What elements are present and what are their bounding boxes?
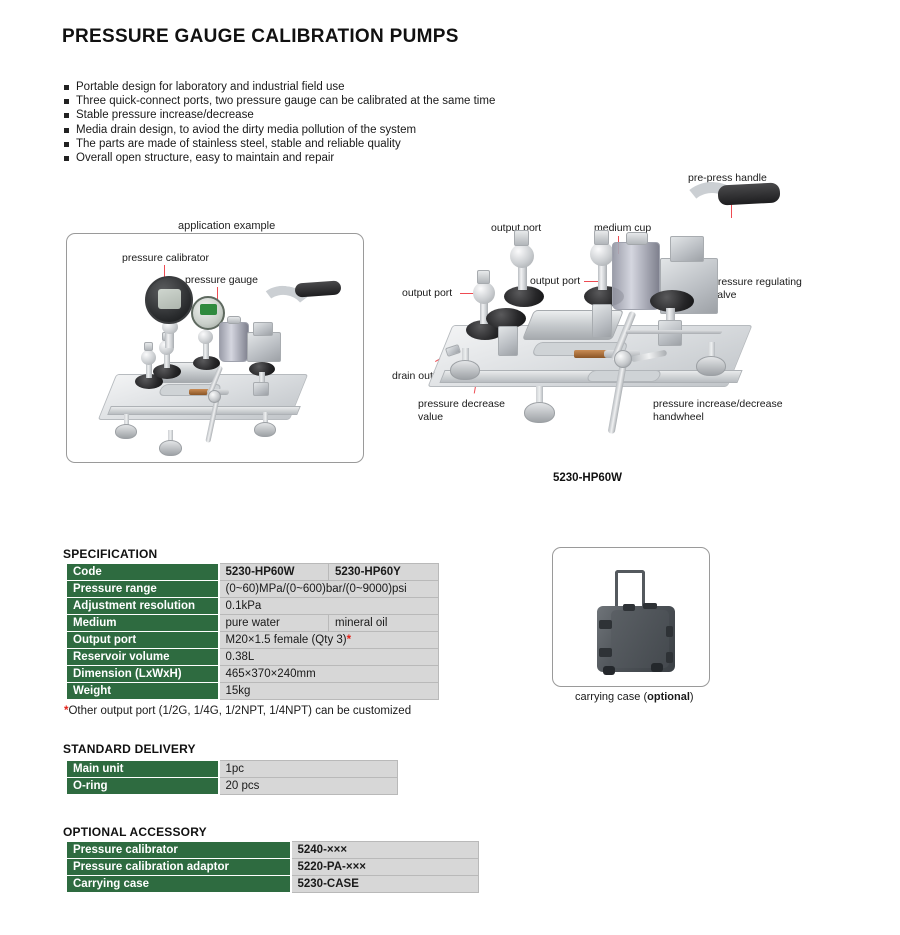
list-item: The parts are made of stainless steel, s… (64, 137, 495, 151)
spec-label: Adjustment resolution (67, 598, 219, 615)
delivery-value: 1pc (219, 761, 398, 778)
case-clasp (666, 626, 673, 637)
spec-value-text: M20×1.5 female (Qty 3) (226, 634, 347, 646)
base-plate-edge (107, 406, 301, 415)
table-row: Output port M20×1.5 female (Qty 3)* (67, 632, 439, 649)
spec-label: Dimension (LxWxH) (67, 666, 219, 683)
square-bullet-icon (64, 85, 69, 90)
spec-value: 15kg (219, 683, 439, 700)
carrying-case-photo (552, 547, 710, 687)
case-front-panel (611, 610, 669, 668)
list-item: Media drain design, to aviod the dirty m… (64, 123, 495, 137)
spec-value: 0.1kPa (219, 598, 439, 615)
standard-delivery-heading: STANDARD DELIVERY (63, 742, 196, 756)
list-item: Portable design for laboratory and indus… (64, 80, 495, 94)
spec-value: pure water (219, 615, 329, 632)
spec-value: (0~60)MPa/(0~600)bar/(0~9000)psi (219, 581, 439, 598)
pressure-gauge-display (200, 304, 217, 315)
port-ball (473, 282, 495, 304)
feature-text: Overall open structure, easy to maintain… (76, 151, 334, 165)
medium-cup-cap (626, 232, 648, 245)
spec-value: 5230-HP60Y (329, 564, 439, 581)
medium-cup-cap (227, 316, 241, 324)
table-row: Main unit 1pc (67, 761, 398, 778)
model-caption: 5230-HP60W (553, 472, 622, 484)
table-row: Adjustment resolution 0.1kPa (67, 598, 439, 615)
spec-value: 0.38L (219, 649, 439, 666)
pre-press-handle-grip (718, 182, 781, 205)
optional-accessory-table: Pressure calibrator 5240-××× Pressure ca… (66, 841, 479, 893)
accessory-value: 5230-CASE (291, 876, 479, 893)
square-bullet-icon (64, 99, 69, 104)
spec-label: Weight (67, 683, 219, 700)
case-side-rib (599, 620, 612, 629)
feature-text: Media drain design, to aviod the dirty m… (76, 123, 416, 137)
datasheet-page: PRESSURE GAUGE CALIBRATION PUMPS Portabl… (0, 0, 900, 935)
standard-delivery-table: Main unit 1pc O-ring 20 pcs (66, 760, 398, 795)
valve-block (253, 382, 269, 396)
callout-line-2: handwheel (653, 411, 704, 423)
feature-text: Stable pressure increase/decrease (76, 108, 254, 122)
port-block (592, 304, 612, 338)
feature-text: Three quick-connect ports, two pressure … (76, 94, 495, 108)
copper-rod (574, 350, 608, 358)
footnote-text: Other output port (1/2G, 1/4G, 1/2NPT, 1… (68, 705, 411, 717)
accessory-value: 5220-PA-××× (291, 859, 479, 876)
spec-value: 465×370×240mm (219, 666, 439, 683)
accessory-label: Pressure calibrator (67, 842, 291, 859)
table-row: Pressure calibrator 5240-××× (67, 842, 479, 859)
handwheel-hub (614, 350, 632, 368)
spec-label: Reservoir volume (67, 649, 219, 666)
spec-label: Output port (67, 632, 219, 649)
rear-tube (625, 330, 723, 334)
table-row: Medium pure water mineral oil (67, 615, 439, 632)
spec-label: Pressure range (67, 581, 219, 598)
carrying-case-caption: carrying case (optional) (575, 691, 694, 703)
leveling-foot (115, 424, 137, 439)
footnote-star-icon: * (347, 634, 351, 646)
case-wheel (603, 666, 615, 675)
spec-value: 5230-HP60W (219, 564, 329, 581)
port-nut (594, 230, 609, 245)
callout-pressure-increase-decrease-handwheel: pressure increase/decrease handwheel (653, 398, 783, 423)
table-row: Reservoir volume 0.38L (67, 649, 439, 666)
callout-pressure-decrease-value: pressure decrease value (418, 398, 505, 423)
decrease-valve-block (498, 326, 518, 356)
spec-value: M20×1.5 female (Qty 3)* (219, 632, 439, 649)
product-photo: pre-press handle output port medium cup … (388, 170, 893, 470)
port-ball (510, 244, 534, 268)
caption-close: ) (690, 691, 694, 703)
port-ball (590, 242, 614, 266)
list-item: Three quick-connect ports, two pressure … (64, 94, 495, 108)
caption-optional: optional (647, 691, 690, 703)
table-row: O-ring 20 pcs (67, 778, 398, 795)
port-nut (514, 230, 529, 246)
table-row: Pressure calibration adaptor 5220-PA-××× (67, 859, 479, 876)
specification-table: Code 5230-HP60W 5230-HP60Y Pressure rang… (66, 563, 439, 700)
leveling-foot (254, 422, 276, 437)
square-bullet-icon (64, 156, 69, 161)
accessory-value: 5240-××× (291, 842, 479, 859)
accessory-label: Carrying case (67, 876, 291, 893)
case-side-rib (599, 648, 612, 657)
specification-footnote: *Other output port (1/2G, 1/4G, 1/2NPT, … (64, 705, 411, 717)
leveling-foot (450, 360, 480, 380)
callout-pressure-regulating-valve: pressure regulating valve (712, 276, 802, 301)
leveling-foot (696, 356, 726, 376)
callout-pressure-calibrator: pressure calibrator (122, 252, 209, 265)
calibrator-display (158, 289, 181, 309)
pre-press-handle-grip (295, 280, 342, 297)
case-wheel (651, 663, 663, 672)
case-latch (623, 604, 635, 611)
port-ball (198, 330, 213, 344)
square-bullet-icon (64, 128, 69, 133)
spec-label: Code (67, 564, 219, 581)
specification-heading: SPECIFICATION (63, 547, 157, 561)
leveling-foot (524, 402, 555, 423)
port-nut (477, 270, 490, 284)
table-row: Pressure range (0~60)MPa/(0~600)bar/(0~9… (67, 581, 439, 598)
caption-text: carrying case ( (575, 691, 647, 703)
leveling-foot (159, 440, 182, 456)
port-ball (141, 350, 156, 365)
table-row: Weight 15kg (67, 683, 439, 700)
case-latch (643, 603, 657, 609)
delivery-label: O-ring (67, 778, 219, 795)
case-clasp (666, 652, 673, 663)
handwheel-hub (208, 390, 221, 403)
table-row: Code 5230-HP60W 5230-HP60Y (67, 564, 439, 581)
feature-text: Portable design for laboratory and indus… (76, 80, 345, 94)
spec-value: mineral oil (329, 615, 439, 632)
spec-label: Medium (67, 615, 219, 632)
feature-list: Portable design for laboratory and indus… (64, 80, 495, 165)
delivery-label: Main unit (67, 761, 219, 778)
callout-line-1: pressure decrease (418, 398, 505, 410)
list-item: Stable pressure increase/decrease (64, 108, 495, 122)
callout-pressure-gauge: pressure gauge (185, 274, 258, 287)
table-row: Dimension (LxWxH) 465×370×240mm (67, 666, 439, 683)
port-nut (144, 342, 153, 351)
table-row: Carrying case 5230-CASE (67, 876, 479, 893)
page-title: PRESSURE GAUGE CALIBRATION PUMPS (62, 26, 459, 48)
feature-text: The parts are made of stainless steel, s… (76, 137, 401, 151)
application-example-photo: pressure calibrator pressure gauge (66, 233, 364, 463)
list-item: Overall open structure, easy to maintain… (64, 151, 495, 165)
callout-output-port-left: output port (402, 287, 452, 300)
medium-cup (219, 322, 249, 362)
accessory-label: Pressure calibration adaptor (67, 859, 291, 876)
callout-line-1: pressure increase/decrease (653, 398, 783, 410)
callout-output-port-mid: output port (530, 275, 580, 288)
callout-line-2: value (418, 411, 443, 423)
delivery-value: 20 pcs (219, 778, 398, 795)
square-bullet-icon (64, 142, 69, 147)
application-example-caption: application example (178, 220, 275, 232)
optional-accessory-heading: OPTIONAL ACCESSORY (63, 825, 207, 839)
callout-line-1: pressure regulating (712, 276, 802, 288)
square-bullet-icon (64, 113, 69, 118)
